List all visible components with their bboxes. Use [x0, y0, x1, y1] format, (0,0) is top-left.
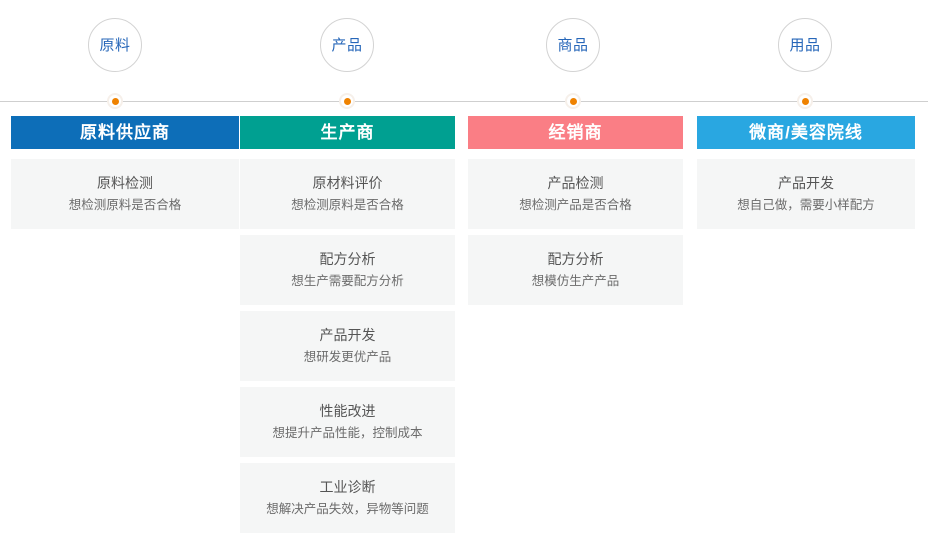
need-card-subtitle: 想自己做，需要小样配方 — [697, 195, 915, 215]
need-card[interactable]: 原料检测想检测原料是否合格 — [11, 159, 239, 229]
need-card[interactable]: 产品开发想自己做，需要小样配方 — [697, 159, 915, 229]
need-card-title: 产品开发 — [697, 173, 915, 193]
timeline-pin-label: 商品 — [556, 38, 589, 53]
stage-column-manufacturer: 生产商原材料评价想检测原料是否合格配方分析想生产需要配方分析产品开发想研发更优产… — [240, 116, 455, 539]
need-card-subtitle: 想模仿生产产品 — [468, 271, 683, 291]
need-card-subtitle: 想提升产品性能，控制成本 — [240, 423, 455, 443]
need-card[interactable]: 产品检测想检测产品是否合格 — [468, 159, 683, 229]
need-card-subtitle: 想检测原料是否合格 — [240, 195, 455, 215]
need-card-list: 原料检测想检测原料是否合格 — [11, 159, 239, 229]
stage-column-micro-business-beauty-salon: 微商/美容院线产品开发想自己做，需要小样配方 — [697, 116, 915, 235]
timeline-pin-3: 用品 — [775, 18, 835, 72]
timeline-axis-line — [0, 101, 928, 102]
need-card-title: 原料检测 — [11, 173, 239, 193]
timeline-dot-icon — [565, 93, 581, 109]
need-card[interactable]: 性能改进想提升产品性能，控制成本 — [240, 387, 455, 457]
map-pin-icon: 原料 — [88, 18, 142, 72]
timeline-pin-row: 原料产品商品用品 — [0, 0, 928, 101]
map-pin-icon: 用品 — [778, 18, 832, 72]
timeline-pin-1: 产品 — [317, 18, 377, 72]
stage-header-manufacturer[interactable]: 生产商 — [240, 116, 455, 149]
timeline-pin-0: 原料 — [85, 18, 145, 72]
need-card-title: 性能改进 — [240, 401, 455, 421]
timeline-dot-core — [112, 98, 119, 105]
need-card[interactable]: 原材料评价想检测原料是否合格 — [240, 159, 455, 229]
need-card-subtitle: 想检测产品是否合格 — [468, 195, 683, 215]
need-card-subtitle: 想研发更优产品 — [240, 347, 455, 367]
timeline-dot-icon — [107, 93, 123, 109]
need-card-list: 产品检测想检测产品是否合格配方分析想模仿生产产品 — [468, 159, 683, 305]
need-card[interactable]: 工业诊断想解决产品失效，异物等问题 — [240, 463, 455, 533]
stage-header-raw-material-supplier[interactable]: 原料供应商 — [11, 116, 239, 149]
need-card-list: 产品开发想自己做，需要小样配方 — [697, 159, 915, 229]
timeline-dot-core — [570, 98, 577, 105]
stage-header-distributor[interactable]: 经销商 — [468, 116, 683, 149]
need-card[interactable]: 配方分析想生产需要配方分析 — [240, 235, 455, 305]
timeline-dot-icon — [797, 93, 813, 109]
stage-column-distributor: 经销商产品检测想检测产品是否合格配方分析想模仿生产产品 — [468, 116, 683, 311]
need-card-title: 配方分析 — [240, 249, 455, 269]
need-card-subtitle: 想解决产品失效，异物等问题 — [240, 499, 455, 519]
need-card-list: 原材料评价想检测原料是否合格配方分析想生产需要配方分析产品开发想研发更优产品性能… — [240, 159, 455, 533]
timeline-dot-icon — [339, 93, 355, 109]
timeline-dot-core — [344, 98, 351, 105]
need-card-title: 配方分析 — [468, 249, 683, 269]
stage-header-micro-business-beauty-salon[interactable]: 微商/美容院线 — [697, 116, 915, 149]
timeline-pin-label: 产品 — [330, 38, 363, 53]
need-card-subtitle: 想生产需要配方分析 — [240, 271, 455, 291]
need-card[interactable]: 配方分析想模仿生产产品 — [468, 235, 683, 305]
timeline-pin-label: 用品 — [788, 38, 821, 53]
need-card[interactable]: 产品开发想研发更优产品 — [240, 311, 455, 381]
need-card-subtitle: 想检测原料是否合格 — [11, 195, 239, 215]
need-card-title: 原材料评价 — [240, 173, 455, 193]
map-pin-icon: 商品 — [546, 18, 600, 72]
stage-column-raw-material-supplier: 原料供应商原料检测想检测原料是否合格 — [11, 116, 239, 235]
timeline-pin-label: 原料 — [98, 38, 131, 53]
timeline-pin-2: 商品 — [543, 18, 603, 72]
need-card-title: 工业诊断 — [240, 477, 455, 497]
map-pin-icon: 产品 — [320, 18, 374, 72]
timeline-dot-core — [802, 98, 809, 105]
need-card-title: 产品检测 — [468, 173, 683, 193]
need-card-title: 产品开发 — [240, 325, 455, 345]
